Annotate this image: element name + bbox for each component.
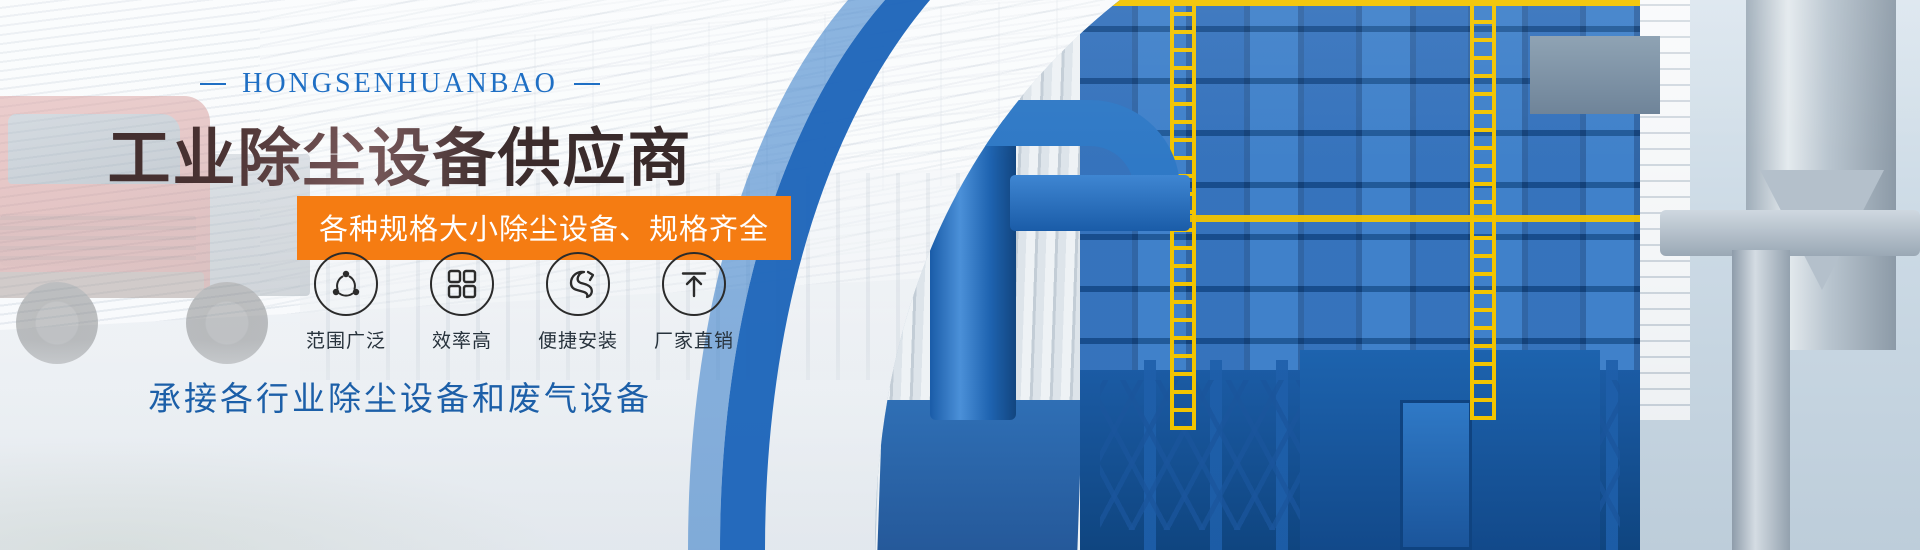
feature-list: 范围广泛 效率高	[300, 252, 740, 353]
feature-label: 便捷安装	[532, 326, 624, 353]
eyebrow-dash-left	[200, 83, 226, 85]
upload-arrow-icon	[677, 267, 711, 301]
hero-banner: HONGSENHUANBAO 工业除尘设备供应商 各种规格大小除尘设备、规格齐全	[0, 0, 1920, 550]
feature-icon-circle	[430, 252, 494, 316]
feature-label: 范围广泛	[300, 326, 392, 353]
feature-icon-circle	[662, 252, 726, 316]
page-title: 工业除尘设备供应商	[0, 108, 800, 199]
feature-icon-circle	[546, 252, 610, 316]
wrench-icon	[560, 266, 596, 302]
feature-icon-circle	[314, 252, 378, 316]
feature-item-direct-sales[interactable]: 厂家直销	[648, 252, 740, 353]
hero-content: HONGSENHUANBAO 工业除尘设备供应商 各种规格大小除尘设备、规格齐全	[0, 0, 800, 550]
feature-label: 厂家直销	[648, 326, 740, 353]
subtitle-orange-bar: 各种规格大小除尘设备、规格齐全	[297, 196, 791, 260]
feature-label: 效率高	[416, 326, 508, 353]
eyebrow-text: HONGSENHUANBAO	[242, 68, 558, 100]
feature-item-scope[interactable]: 范围广泛	[300, 252, 392, 353]
grid-squares-icon	[445, 267, 479, 301]
feature-item-installation[interactable]: 便捷安装	[532, 252, 624, 353]
eyebrow-line: HONGSENHUANBAO	[0, 68, 800, 100]
share-network-icon	[328, 266, 364, 302]
eyebrow-dash-right	[574, 83, 600, 85]
factory-window	[1530, 36, 1660, 114]
feature-item-efficiency[interactable]: 效率高	[416, 252, 508, 353]
hero-tagline: 承接各行业除尘设备和废气设备	[0, 372, 800, 420]
